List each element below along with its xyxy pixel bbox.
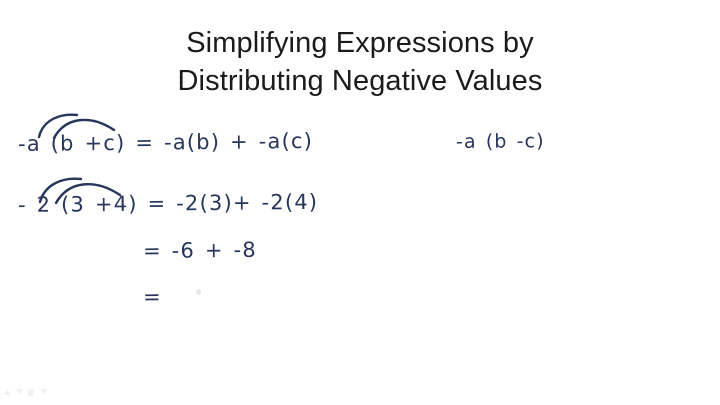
play-icon — [4, 389, 11, 395]
page-title: Simplifying Expressions by Distributing … — [0, 24, 720, 100]
equation-numeric-step-3: = — [143, 285, 162, 309]
faded-player-controls — [4, 387, 56, 398]
equation-general-rule: -a (b +c) = -a(b) + -a(c) — [18, 129, 313, 156]
slide-canvas: Simplifying Expressions by Distributing … — [0, 0, 720, 405]
equation-secondary-prompt: -a (b -c) — [456, 130, 545, 153]
equation-numeric-step-2: = -6 + -8 — [143, 238, 257, 263]
chevron-down-icon — [16, 389, 23, 395]
equation-numeric-step-1: - 2 (3 +4) = -2(3)+ -2(4) — [18, 190, 319, 217]
stop-icon — [28, 389, 34, 396]
volume-icon — [40, 389, 48, 394]
page-title-line-2: Distributing Negative Values — [0, 62, 720, 100]
page-title-line-1: Simplifying Expressions by — [0, 24, 720, 62]
faint-pen-speck — [196, 289, 201, 295]
